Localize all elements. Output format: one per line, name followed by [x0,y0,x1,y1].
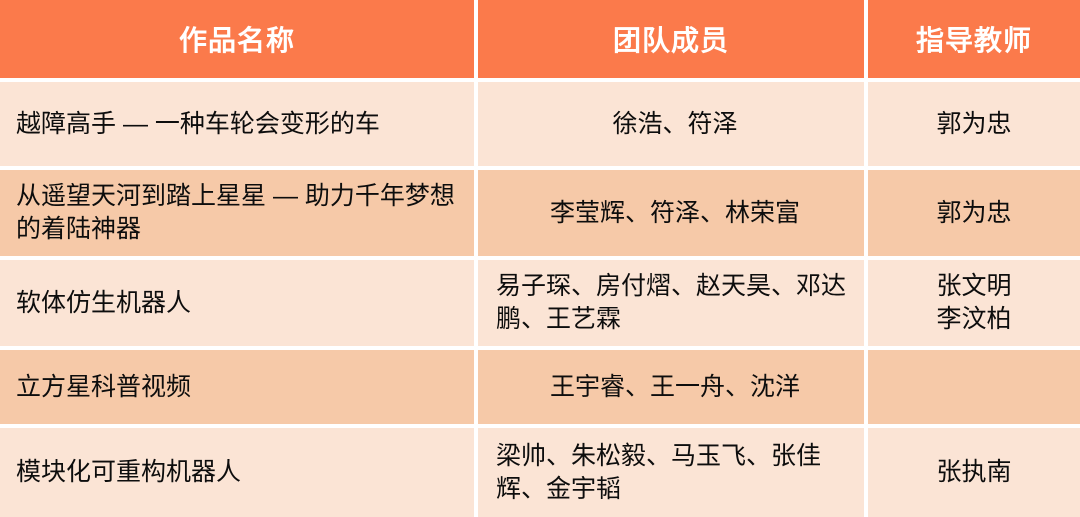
award-table: 作品名称 团队成员 指导教师 越障高手 — 一种车轮会变形的车 徐浩、符泽 郭为… [0,0,1080,517]
cell-title: 软体仿生机器人 [0,260,478,350]
cell-title: 立方星科普视频 [0,350,478,428]
member-text: 徐浩、符泽 [612,108,737,141]
mentor-text: 郭为忠 [936,197,1011,230]
mentor-text: 郭为忠 [936,108,1011,141]
table-row: 立方星科普视频 王宇睿、王一舟、沈洋 [0,350,1080,428]
table-row: 从遥望天河到踏上星星 — 助力千年梦想的着陆神器 李莹辉、符泽、林荣富 郭为忠 [0,170,1080,260]
cell-mentor: 张文明 李汶柏 [868,260,1080,350]
table-row: 越障高手 — 一种车轮会变形的车 徐浩、符泽 郭为忠 [0,82,1080,170]
cell-mentor: 郭为忠 [868,82,1080,170]
member-text: 易子琛、房付熠、赵天昊、邓达鹏、王艺霖 [496,270,854,336]
header-row: 作品名称 团队成员 指导教师 [0,0,1080,82]
cell-title: 从遥望天河到踏上星星 — 助力千年梦想的着陆神器 [0,170,478,260]
member-text: 梁帅、朱松毅、马玉飞、张佳辉、金宇韬 [496,440,854,506]
cell-mentor: 郭为忠 [868,170,1080,260]
table-body: 越障高手 — 一种车轮会变形的车 徐浩、符泽 郭为忠 从遥望天河到踏上星星 — … [0,82,1080,517]
cell-mentor [868,350,1080,428]
cell-member: 易子琛、房付熠、赵天昊、邓达鹏、王艺霖 [478,260,868,350]
cell-mentor: 张执南 [868,428,1080,517]
mentor-text: 张执南 [936,456,1011,489]
table-header: 作品名称 团队成员 指导教师 [0,0,1080,82]
member-text: 李莹辉、符泽、林荣富 [550,197,800,230]
mentor-text: 张文明 李汶柏 [936,270,1011,336]
cell-member: 梁帅、朱松毅、马玉飞、张佳辉、金宇韬 [478,428,868,517]
cell-member: 李莹辉、符泽、林荣富 [478,170,868,260]
cell-member: 徐浩、符泽 [478,82,868,170]
cell-title: 越障高手 — 一种车轮会变形的车 [0,82,478,170]
column-header-mentor: 指导教师 [868,0,1080,82]
award-table-container: 作品名称 团队成员 指导教师 越障高手 — 一种车轮会变形的车 徐浩、符泽 郭为… [0,0,1080,513]
table-row: 模块化可重构机器人 梁帅、朱松毅、马玉飞、张佳辉、金宇韬 张执南 [0,428,1080,517]
table-row: 软体仿生机器人 易子琛、房付熠、赵天昊、邓达鹏、王艺霖 张文明 李汶柏 [0,260,1080,350]
column-header-title: 作品名称 [0,0,478,82]
cell-title: 模块化可重构机器人 [0,428,478,517]
cell-member: 王宇睿、王一舟、沈洋 [478,350,868,428]
member-text: 王宇睿、王一舟、沈洋 [550,371,800,404]
column-header-member: 团队成员 [478,0,868,82]
